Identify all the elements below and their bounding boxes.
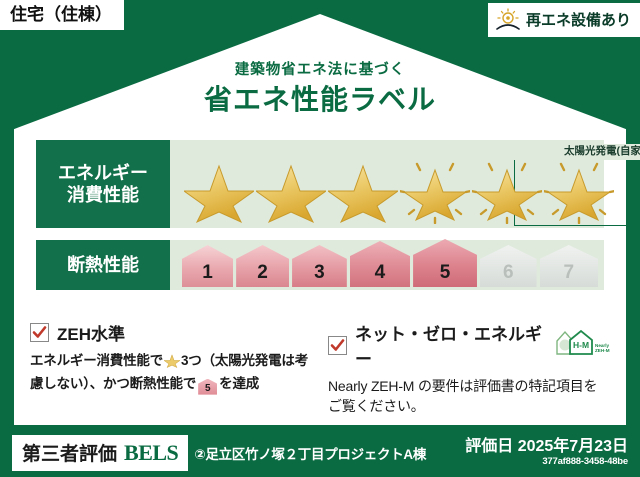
star-solar-icon xyxy=(472,158,542,224)
net-zero-energy-body: Nearly ZEH-M の要件は評価書の特記項目をご覧ください。 xyxy=(328,376,610,417)
energy-stars-panel: 太陽光発電(自家消費)分 xyxy=(170,140,604,228)
net-zero-energy-block: ネット・ゼロ・エネルギー H-M Nearly ZEH-M Nearly ZEH… xyxy=(328,320,610,415)
checkbox-checked-icon xyxy=(328,336,347,355)
star-icon xyxy=(164,353,180,374)
insulation-step-value: 3 xyxy=(314,262,325,284)
insulation-step-value: 1 xyxy=(202,262,213,284)
insulation-step: 1 xyxy=(182,245,233,287)
star-rating-group xyxy=(184,140,598,228)
label-subtitle: 建築物省エネ法に基づく xyxy=(0,58,640,79)
zeh-m-logo-text: H-M xyxy=(573,340,589,350)
insulation-steps-panel: 1 2 3 4 5 6 7 xyxy=(170,240,604,290)
bels-logo-text: BELS xyxy=(124,440,178,466)
energy-performance-label: 住宅（住棟） 再エネ設備あり 建築物省エネ法に基づく 省エネ性能ラベル xyxy=(0,0,640,477)
energy-label-line1: エネルギー xyxy=(58,162,148,185)
renewable-equipment-badge: 再エネ設備あり xyxy=(488,3,640,37)
zeh-body-pre: エネルギー消費性能で xyxy=(30,353,163,368)
zeh-standard-heading: ZEH水準 xyxy=(30,320,312,345)
star-icon xyxy=(256,158,326,224)
insulation-step: 4 xyxy=(350,241,410,287)
zeh-standard-body: エネルギー消費性能で3つ（太陽光発電は考慮しない）、かつ断熱性能で5を達成 xyxy=(30,351,312,395)
evaluation-info: 評価日 2025年7月23日 377af888-3458-48be xyxy=(465,438,628,468)
project-name: ②足立区竹ノ塚２丁目プロジェクトA棟 xyxy=(194,443,426,463)
label-footer: 第三者評価 BELS ②足立区竹ノ塚２丁目プロジェクトA棟 評価日 2025年7… xyxy=(0,429,640,477)
evaluation-id: 377af888-3458-48be xyxy=(465,456,628,468)
energy-label-line2: 消費性能 xyxy=(67,184,139,207)
zeh-m-logo-icon: H-M Nearly ZEH-M xyxy=(554,328,610,363)
net-zero-energy-title: ネット・ゼロ・エネルギー xyxy=(355,320,542,370)
insulation-label-text: 断熱性能 xyxy=(67,254,139,277)
zeh-standard-title: ZEH水準 xyxy=(57,320,125,345)
sun-icon xyxy=(495,8,521,32)
checkbox-checked-icon xyxy=(30,323,49,342)
zeh-m-logo-sub2: ZEH-M xyxy=(595,348,610,353)
net-zero-energy-heading: ネット・ゼロ・エネルギー H-M Nearly ZEH-M xyxy=(328,320,610,370)
energy-consumption-label: エネルギー 消費性能 xyxy=(36,140,170,228)
insulation-step-value: 6 xyxy=(503,262,514,284)
renewable-badge-label: 再エネ設備あり xyxy=(526,13,631,28)
dwelling-type-tag: 住宅（住棟） xyxy=(0,0,124,30)
evaluation-date: 評価日 2025年7月23日 xyxy=(465,438,628,456)
zeh-body-post: を達成 xyxy=(219,376,259,391)
energy-consumption-row: エネルギー 消費性能 太陽光発電(自家消費)分 xyxy=(36,140,604,228)
label-title: 省エネ性能ラベル xyxy=(0,78,640,118)
bels-certification-tag: 第三者評価 BELS xyxy=(12,435,188,471)
criteria-section: ZEH水準 エネルギー消費性能で3つ（太陽光発電は考慮しない）、かつ断熱性能で5… xyxy=(30,320,610,415)
insulation-step-value: 5 xyxy=(440,262,451,284)
star-icon xyxy=(184,158,254,224)
zeh-standard-block: ZEH水準 エネルギー消費性能で3つ（太陽光発電は考慮しない）、かつ断熱性能で5… xyxy=(30,320,312,415)
insulation-step: 3 xyxy=(292,245,347,287)
insulation-step-value: 4 xyxy=(375,262,386,284)
insulation-step: 6 xyxy=(480,245,537,287)
insulation-step-value: 7 xyxy=(564,262,575,284)
star-solar-icon xyxy=(544,158,614,224)
insulation-performance-row: 断熱性能 1 2 3 4 5 6 7 xyxy=(36,240,604,290)
insulation-performance-label: 断熱性能 xyxy=(36,240,170,290)
insulation-grade-badge: 5 xyxy=(198,379,217,395)
insulation-step: 5 xyxy=(413,239,477,287)
bels-jp-label: 第三者評価 xyxy=(22,439,117,466)
star-solar-icon xyxy=(400,158,470,224)
star-icon xyxy=(328,158,398,224)
insulation-step-value: 2 xyxy=(257,262,268,284)
insulation-step: 7 xyxy=(540,245,598,287)
insulation-step: 2 xyxy=(236,245,289,287)
insulation-step-group: 1 2 3 4 5 6 7 xyxy=(182,243,598,287)
